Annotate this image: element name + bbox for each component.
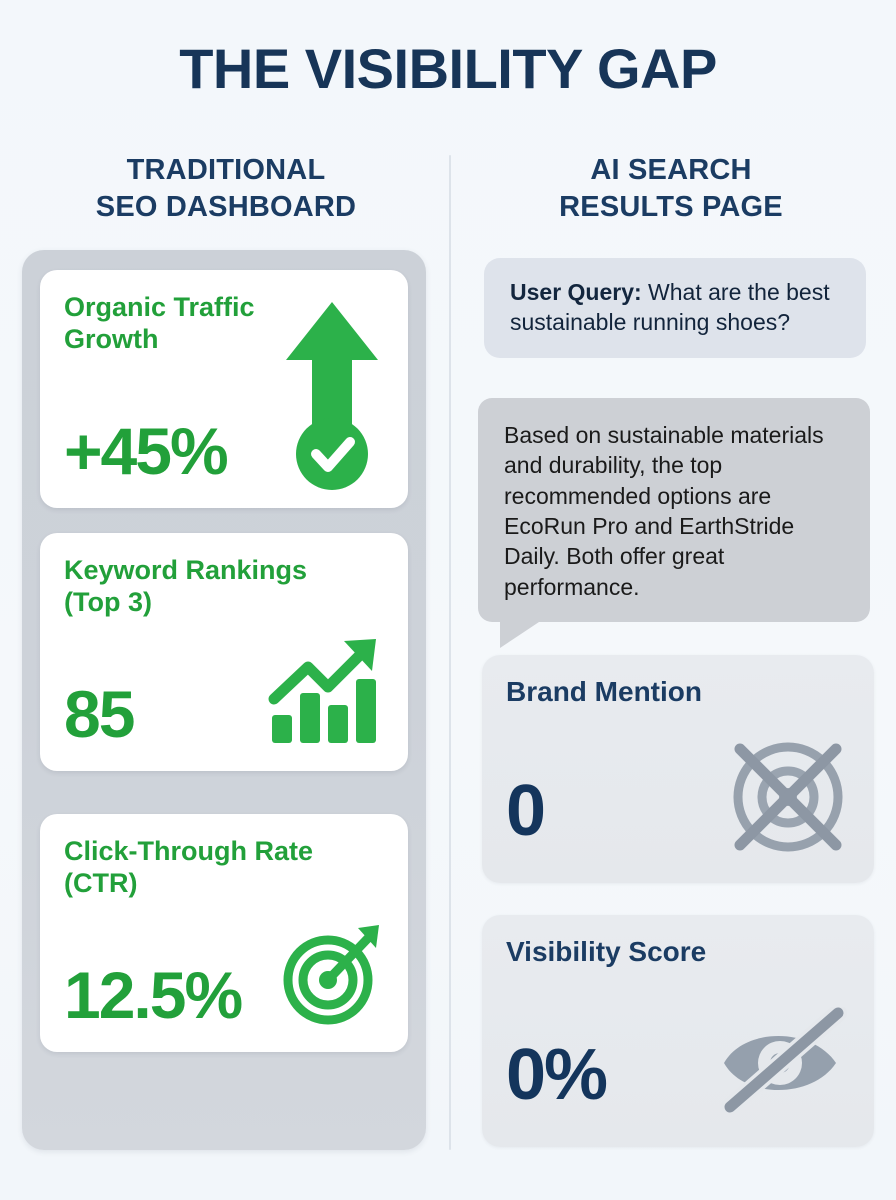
metric-card-keyword-rankings[interactable]: Keyword Rankings (Top 3) 85 <box>40 533 408 771</box>
metric-value-row: 12.5% <box>64 962 241 1028</box>
right-heading-line1: AI SEARCH <box>590 154 751 186</box>
metric-label-line1: Keyword Rankings <box>64 555 307 585</box>
metric-label-line2: (CTR) <box>64 868 137 898</box>
no-target-crossed-icon <box>724 733 852 861</box>
infographic-page: THE VISIBILITY GAP TRADITIONAL SEO DASHB… <box>0 0 896 1200</box>
metric-value-row: +45% <box>64 418 227 484</box>
metric-label: Keyword Rankings (Top 3) <box>64 555 324 619</box>
left-heading-line1: TRADITIONAL <box>127 154 326 186</box>
user-query-prefix: User Query: <box>510 279 642 305</box>
metric-label: Brand Mention <box>506 675 850 709</box>
metric-card-brand-mention[interactable]: Brand Mention 0 <box>482 655 874 883</box>
metric-value: 85 <box>64 681 133 747</box>
user-query-bubble: User Query: What are the best sustainabl… <box>484 258 866 358</box>
metric-value: 0 <box>506 775 544 847</box>
metric-label-line2: (Top 3) <box>64 587 152 617</box>
metric-value: 0% <box>506 1039 606 1111</box>
right-heading-line2: RESULTS PAGE <box>559 191 783 223</box>
metric-value-row: 85 <box>64 681 133 747</box>
metric-label-line1: Click-Through Rate <box>64 836 313 866</box>
right-column-heading: AI SEARCH RESULTS PAGE <box>466 152 876 226</box>
left-heading-line2: SEO DASHBOARD <box>96 191 356 223</box>
left-column-heading: TRADITIONAL SEO DASHBOARD <box>22 152 430 226</box>
page-title: THE VISIBILITY GAP <box>0 40 896 99</box>
metric-label-line2: Growth <box>64 324 159 354</box>
metric-value: +45% <box>64 418 227 484</box>
ai-answer-bubble: Based on sustainable materials and durab… <box>478 398 870 622</box>
metric-label-line1: Organic Traffic <box>64 292 255 322</box>
ai-answer-text: Based on sustainable materials and durab… <box>504 422 824 600</box>
metric-label: Click-Through Rate (CTR) <box>64 836 324 900</box>
column-divider <box>449 155 451 1150</box>
bar-chart-growth-icon <box>268 635 386 747</box>
metric-card-organic-traffic[interactable]: Organic Traffic Growth +45% <box>40 270 408 508</box>
metric-label: Visibility Score <box>506 935 850 969</box>
eye-off-icon <box>716 1007 852 1113</box>
target-arrow-icon <box>280 922 384 1026</box>
metric-card-visibility-score[interactable]: Visibility Score 0% <box>482 915 874 1147</box>
metric-value: 12.5% <box>64 962 241 1028</box>
up-arrow-check-icon <box>278 298 386 494</box>
metric-card-click-through-rate[interactable]: Click-Through Rate (CTR) 12.5% <box>40 814 408 1052</box>
